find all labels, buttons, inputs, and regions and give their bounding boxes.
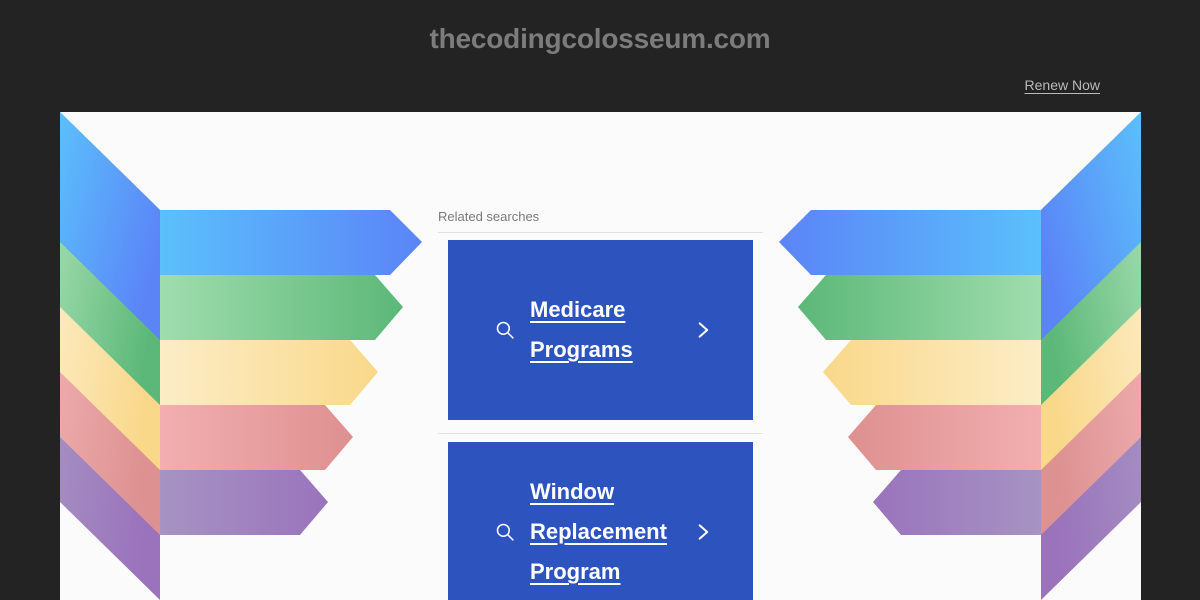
arrow-bands-left-svg — [60, 112, 425, 600]
decorative-arrows-right — [776, 112, 1141, 600]
chevron-right-icon — [693, 319, 713, 341]
renew-bar: Renew Now — [0, 78, 1200, 112]
arrow-bands-right-svg — [776, 112, 1141, 600]
page-title: thecodingcolosseum.com — [430, 25, 771, 53]
search-icon — [494, 521, 516, 543]
related-search-card-2[interactable]: Window Replacement Program — [448, 442, 753, 600]
related-searches-label: Related searches — [438, 210, 539, 223]
decorative-arrows-left — [60, 112, 425, 600]
divider-middle — [438, 433, 763, 434]
renew-now-link[interactable]: Renew Now — [1025, 78, 1100, 92]
card-label-2: Window Replacement Program — [530, 472, 679, 592]
divider-top — [438, 232, 763, 233]
related-search-card-1[interactable]: Medicare Programs — [448, 240, 753, 420]
card-label-1: Medicare Programs — [530, 290, 679, 370]
card-inner-2: Window Replacement Program — [448, 472, 753, 592]
related-searches-column: Related searches Medicare Programs — [438, 112, 763, 600]
content-panel: Related searches Medicare Programs — [60, 112, 1141, 600]
chevron-right-icon — [693, 521, 713, 543]
page-header: thecodingcolosseum.com — [0, 0, 1200, 78]
card-inner-1: Medicare Programs — [448, 290, 753, 370]
search-icon — [494, 319, 516, 341]
